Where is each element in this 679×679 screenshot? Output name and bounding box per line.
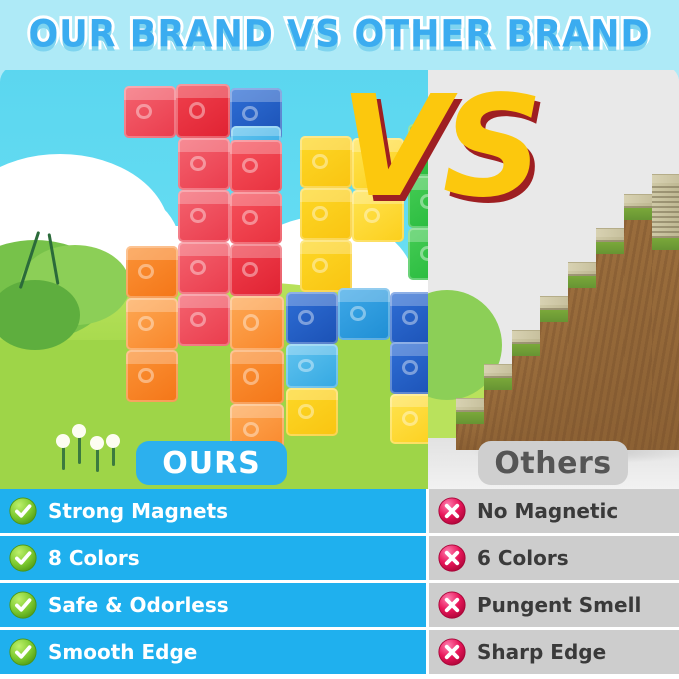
magnetic-cube (178, 190, 230, 242)
magnetic-cube (286, 344, 338, 388)
page-title: OUR BRAND VS OTHER BRAND (28, 14, 650, 56)
magnetic-cube (390, 292, 428, 344)
ours-badge: OURS (136, 441, 287, 485)
magnetic-cube (176, 84, 230, 138)
flower-shape (78, 434, 81, 464)
others-feature-cell: Sharp Edge (429, 630, 679, 674)
magnetic-cube (230, 350, 284, 404)
magnetic-cube (178, 138, 230, 190)
ours-feature-label: Smooth Edge (48, 640, 197, 664)
cross-circle-icon (438, 638, 466, 666)
magnetic-cube (300, 240, 352, 292)
others-feature-cell: No Magnetic (429, 489, 679, 533)
poster-header: OUR BRAND VS OTHER BRAND (0, 0, 679, 70)
others-feature-cell: Pungent Smell (429, 583, 679, 627)
magnetic-cube (124, 86, 176, 138)
others-feature-label: 6 Colors (477, 546, 569, 570)
magnetic-cube (408, 228, 428, 280)
stair-step (652, 174, 679, 450)
check-circle-icon (9, 544, 37, 572)
ours-feature-cell: Strong Magnets (0, 489, 426, 533)
cross-circle-icon (438, 544, 466, 572)
flower-shape (96, 446, 99, 472)
magnetic-cube (230, 244, 282, 296)
magnetic-cube (286, 388, 338, 436)
stair-step (596, 242, 626, 450)
ours-feature-label: 8 Colors (48, 546, 140, 570)
magnetic-cube (126, 350, 178, 402)
others-badge: Others (478, 441, 628, 485)
flower-shape (112, 444, 115, 466)
magnetic-cube (338, 288, 390, 340)
stair-step (512, 344, 542, 450)
vs-label: VS (340, 78, 537, 218)
table-row: Safe & Odorless Pungent Smell (0, 583, 679, 627)
comparison-table: Strong Magnets No Magnetic 8 Colors (0, 489, 679, 679)
magnetic-cube (230, 192, 282, 244)
stair-step (540, 310, 570, 450)
table-row: 8 Colors 6 Colors (0, 536, 679, 580)
stair-step (624, 208, 654, 450)
magnetic-cube (390, 342, 428, 394)
magnetic-cube (230, 296, 284, 350)
magnetic-cube (230, 140, 282, 192)
stair-step (568, 276, 598, 450)
ours-feature-cell: Safe & Odorless (0, 583, 426, 627)
magnetic-cube (286, 292, 338, 344)
others-feature-cell: 6 Colors (429, 536, 679, 580)
flower-shape (62, 444, 65, 470)
ours-feature-label: Safe & Odorless (48, 593, 229, 617)
magnetic-cube (390, 394, 428, 444)
magnetic-cube (126, 246, 178, 298)
magnetic-cube (126, 298, 178, 350)
magnetic-cube (178, 242, 230, 294)
ours-badge-label: OURS (162, 446, 261, 481)
check-circle-icon (9, 638, 37, 666)
ours-feature-label: Strong Magnets (48, 499, 228, 523)
cross-circle-icon (438, 497, 466, 525)
check-circle-icon (9, 591, 37, 619)
others-feature-label: Pungent Smell (477, 593, 641, 617)
others-feature-label: Sharp Edge (477, 640, 606, 664)
table-row: Strong Magnets No Magnetic (0, 489, 679, 533)
others-feature-label: No Magnetic (477, 499, 618, 523)
magnetic-cube (178, 294, 230, 346)
cross-circle-icon (438, 591, 466, 619)
comparison-poster: OUR BRAND VS OTHER BRAND (0, 0, 679, 679)
ours-feature-cell: Smooth Edge (0, 630, 426, 674)
ours-feature-cell: 8 Colors (0, 536, 426, 580)
check-circle-icon (9, 497, 37, 525)
stair-step (484, 378, 514, 450)
table-row: Smooth Edge Sharp Edge (0, 630, 679, 674)
others-badge-label: Others (494, 446, 611, 481)
